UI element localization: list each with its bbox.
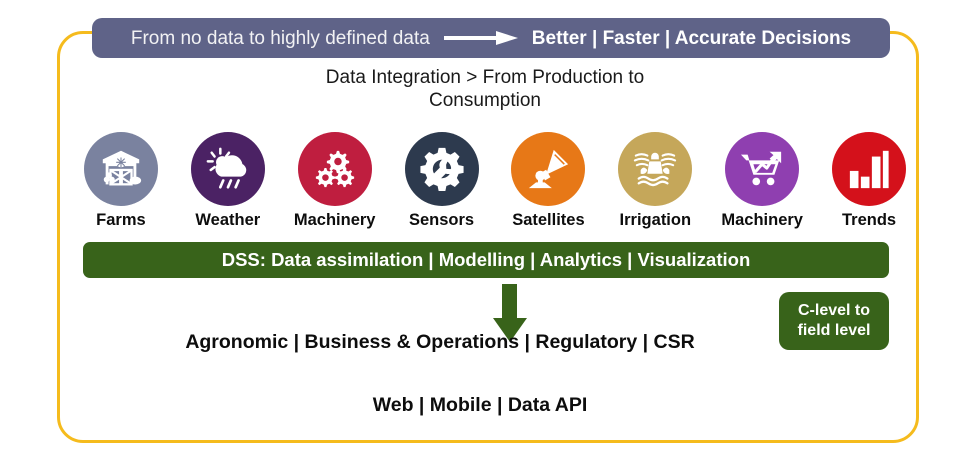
source-label: Trends (842, 212, 896, 229)
source-item-sensors[interactable]: Sensors (389, 132, 495, 229)
source-label: Sensors (409, 212, 474, 229)
header-left-text: From no data to highly defined data (131, 29, 430, 48)
shopping-cart-trend-icon (725, 132, 799, 206)
source-item-satellites[interactable]: Satellites (496, 132, 602, 229)
satellite-dish-icon (511, 132, 585, 206)
data-source-row: Farms (68, 132, 923, 232)
diagram-canvas: From no data to highly defined data Bett… (0, 0, 961, 452)
c-level-badge: C-level to field level (779, 292, 889, 350)
dss-banner: DSS: Data assimilation | Modelling | Ana… (83, 242, 889, 278)
c-level-line-1: C-level to (798, 301, 870, 321)
bar-chart-icon (832, 132, 906, 206)
source-label: Irrigation (620, 212, 692, 229)
subtitle: Data Integration > From Production to Co… (250, 66, 720, 112)
source-item-farms[interactable]: Farms (68, 132, 174, 229)
source-item-machinery-cart[interactable]: Machinery (709, 132, 815, 229)
source-item-weather[interactable]: Weather (175, 132, 281, 229)
gears-icon (298, 132, 372, 206)
source-label: Weather (195, 212, 260, 229)
arrow-right-icon (444, 31, 518, 45)
outcomes-text: Agronomic | Business & Operations | Regu… (90, 333, 790, 353)
sun-cloud-rain-icon (191, 132, 265, 206)
source-label: Satellites (512, 212, 584, 229)
header-banner: From no data to highly defined data Bett… (92, 18, 890, 58)
subtitle-line-2: Consumption (250, 89, 720, 112)
source-item-trends[interactable]: Trends (816, 132, 922, 229)
channels-text: Web | Mobile | Data API (130, 396, 830, 416)
sprinkler-icon (618, 132, 692, 206)
dss-text: DSS: Data assimilation | Modelling | Ana… (222, 251, 751, 270)
source-item-machinery[interactable]: Machinery (282, 132, 388, 229)
source-label: Machinery (294, 212, 376, 229)
header-right-text: Better | Faster | Accurate Decisions (532, 29, 851, 48)
gear-wrench-icon (405, 132, 479, 206)
barn-icon (84, 132, 158, 206)
source-label: Farms (96, 212, 146, 229)
c-level-line-2: field level (798, 321, 871, 341)
subtitle-line-1: Data Integration > From Production to (250, 66, 720, 89)
source-label: Machinery (721, 212, 803, 229)
source-item-irrigation[interactable]: Irrigation (602, 132, 708, 229)
